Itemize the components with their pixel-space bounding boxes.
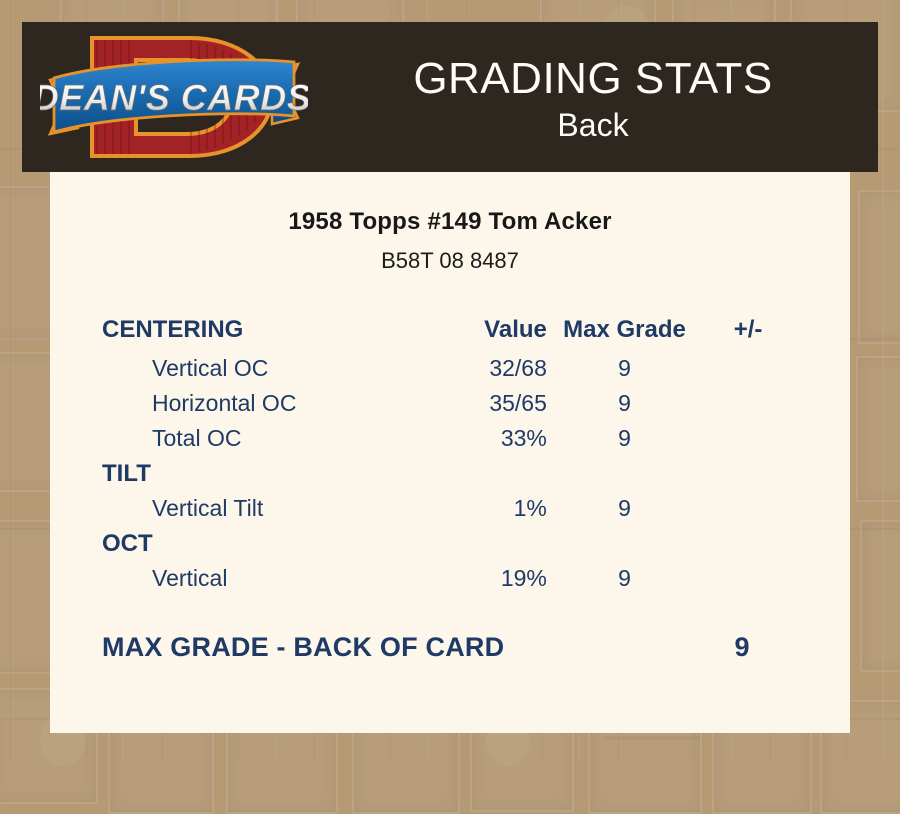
table-row: Vertical 19% 9 bbox=[102, 561, 802, 596]
row-label: Vertical OC bbox=[102, 351, 426, 386]
row-max-grade: 9 bbox=[555, 491, 694, 526]
column-header-plus-minus: +/- bbox=[694, 312, 802, 351]
section-spacer-pm bbox=[694, 526, 802, 561]
table-header-row: CENTERING Value Max Grade +/- bbox=[102, 312, 802, 351]
summary-value: 9 bbox=[682, 632, 802, 663]
column-header-max-grade: Max Grade bbox=[555, 312, 694, 351]
row-max-grade: 9 bbox=[555, 386, 694, 421]
column-header-centering: CENTERING bbox=[102, 312, 426, 351]
row-plus-minus bbox=[694, 561, 802, 596]
table-row: Vertical Tilt 1% 9 bbox=[102, 491, 802, 526]
section-spacer-value bbox=[426, 456, 555, 491]
card-title: 1958 Topps #149 Tom Acker bbox=[50, 208, 850, 236]
header-title-block: GRADING STATS Back bbox=[308, 22, 878, 172]
grading-stats-table: CENTERING Value Max Grade +/- Vertical O… bbox=[102, 312, 802, 596]
section-label: TILT bbox=[102, 456, 426, 491]
section-header-tilt: TILT bbox=[102, 456, 802, 491]
row-value: 19% bbox=[426, 561, 555, 596]
section-spacer-grade bbox=[555, 456, 694, 491]
page-root: DEAN'S CARDS GRADING STATS Back 1958 Top… bbox=[0, 0, 900, 760]
row-plus-minus bbox=[694, 351, 802, 386]
row-label: Vertical Tilt bbox=[102, 491, 426, 526]
summary-label: MAX GRADE - BACK OF CARD bbox=[102, 632, 682, 663]
table-row: Total OC 33% 9 bbox=[102, 421, 802, 456]
table-row: Horizontal OC 35/65 9 bbox=[102, 386, 802, 421]
deans-cards-logo[interactable]: DEAN'S CARDS bbox=[40, 24, 308, 170]
column-header-value: Value bbox=[426, 312, 555, 351]
page-title: GRADING STATS bbox=[413, 56, 772, 102]
row-max-grade: 9 bbox=[555, 421, 694, 456]
row-value: 1% bbox=[426, 491, 555, 526]
row-plus-minus bbox=[694, 421, 802, 456]
card-serial-number: B58T 08 8487 bbox=[50, 248, 850, 274]
row-max-grade: 9 bbox=[555, 351, 694, 386]
section-label: OCT bbox=[102, 526, 426, 561]
table-row: Vertical OC 32/68 9 bbox=[102, 351, 802, 386]
logo-svg: DEAN'S CARDS bbox=[40, 24, 308, 170]
row-value: 33% bbox=[426, 421, 555, 456]
row-plus-minus bbox=[694, 386, 802, 421]
logo-banner-text: DEAN'S CARDS bbox=[40, 77, 308, 118]
section-spacer-value bbox=[426, 526, 555, 561]
row-plus-minus bbox=[694, 491, 802, 526]
section-spacer-grade bbox=[555, 526, 694, 561]
max-grade-summary: MAX GRADE - BACK OF CARD 9 bbox=[102, 632, 802, 663]
header-bar: DEAN'S CARDS GRADING STATS Back bbox=[22, 22, 878, 172]
page-subtitle: Back bbox=[557, 106, 628, 144]
row-value: 32/68 bbox=[426, 351, 555, 386]
row-label: Total OC bbox=[102, 421, 426, 456]
section-spacer-pm bbox=[694, 456, 802, 491]
row-value: 35/65 bbox=[426, 386, 555, 421]
row-label: Vertical bbox=[102, 561, 426, 596]
row-max-grade: 9 bbox=[555, 561, 694, 596]
section-header-oct: OCT bbox=[102, 526, 802, 561]
row-label: Horizontal OC bbox=[102, 386, 426, 421]
content-panel: 1958 Topps #149 Tom Acker B58T 08 8487 C… bbox=[50, 172, 850, 733]
